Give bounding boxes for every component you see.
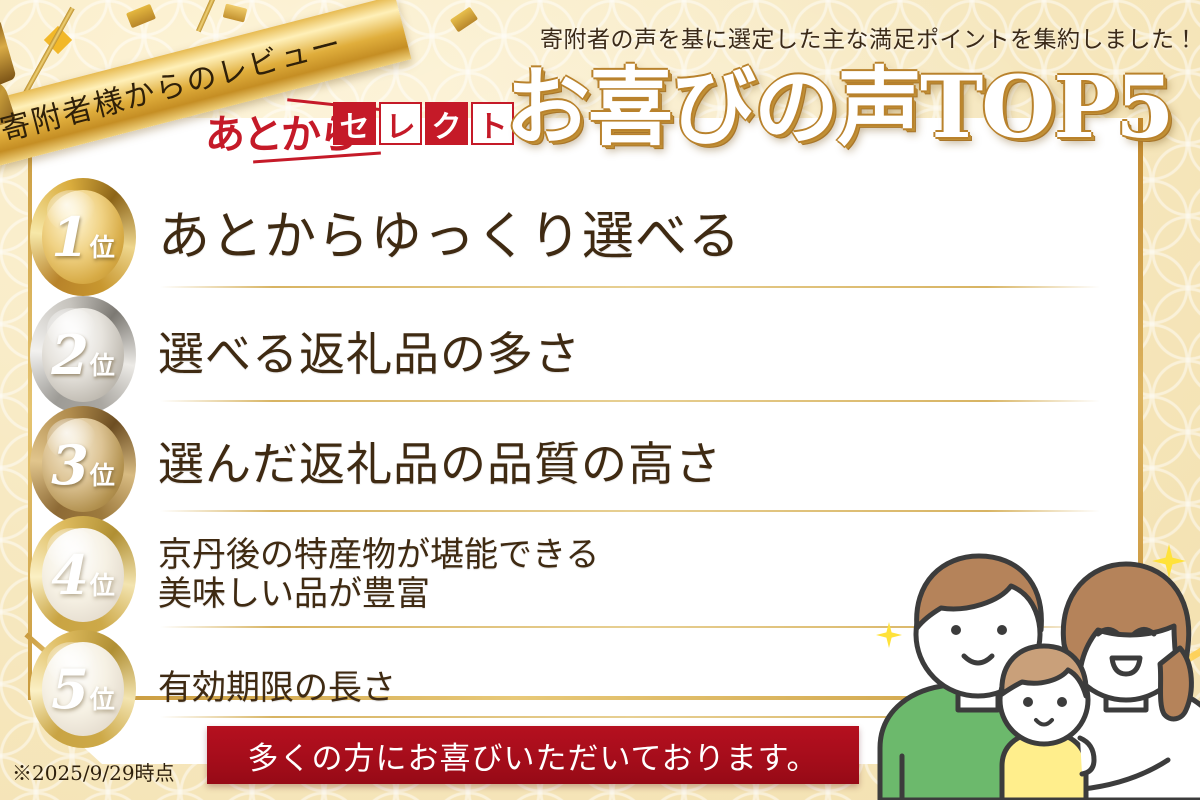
rank-label-line: 京丹後の特産物が堪能できる bbox=[158, 536, 599, 575]
rank-suffix: 位 bbox=[90, 353, 115, 378]
rank-label-line: 選んだ返礼品の品質の高さ bbox=[158, 438, 722, 491]
rank-label-line: 有効期限の長さ bbox=[158, 669, 396, 708]
bottom-banner: 多くの方にお喜びいただいております。 bbox=[207, 726, 859, 784]
date-note: ※2025/9/29時点 bbox=[12, 757, 175, 786]
rank-number: 3 bbox=[51, 438, 89, 492]
rank-row: 1 位 あとからゆっくり選べる bbox=[30, 178, 741, 296]
rank-number: 4 bbox=[51, 548, 89, 602]
rank-label: 京丹後の特産物が堪能できる 美味しい品が豊富 bbox=[158, 536, 599, 615]
rank-label-line: 美味しい品が豊富 bbox=[158, 575, 599, 614]
medal-rank-text: 1 位 bbox=[51, 210, 115, 264]
family-illustration bbox=[862, 498, 1200, 800]
rank-row: 4 位 京丹後の特産物が堪能できる 美味しい品が豊富 bbox=[30, 516, 599, 634]
medal-icon-gold: 1 位 bbox=[30, 178, 136, 296]
medal-rank-text: 4 位 bbox=[51, 548, 115, 602]
family-svg bbox=[862, 498, 1200, 800]
rank-suffix: 位 bbox=[90, 573, 115, 598]
rank-separator bbox=[160, 400, 1100, 402]
rank-row: 2 位 選べる返礼品の多さ bbox=[30, 296, 581, 414]
rank-label: 選んだ返礼品の品質の高さ bbox=[158, 438, 722, 491]
ribbon-stick-icon bbox=[196, 0, 225, 32]
subtitle-text: 寄附者の声を基に選定した主な満足ポイントを集約しました！ bbox=[540, 20, 1180, 54]
rank-suffix: 位 bbox=[90, 687, 115, 712]
rank-row: 3 位 選んだ返礼品の品質の高さ bbox=[30, 406, 722, 524]
rank-number: 5 bbox=[51, 662, 89, 716]
rank-label: 有効期限の長さ bbox=[158, 669, 396, 708]
medal-icon-rank5: 5 位 bbox=[30, 630, 136, 748]
medal-rank-text: 5 位 bbox=[51, 662, 115, 716]
medal-icon-silver: 2 位 bbox=[30, 296, 136, 414]
rank-number: 2 bbox=[51, 328, 89, 382]
rank-suffix: 位 bbox=[90, 235, 115, 260]
rank-number: 1 bbox=[51, 210, 89, 264]
rank-suffix: 位 bbox=[90, 463, 115, 488]
medal-rank-text: 3 位 bbox=[51, 438, 115, 492]
medal-rank-text: 2 位 bbox=[51, 328, 115, 382]
rank-label-line: 選べる返礼品の多さ bbox=[158, 328, 581, 381]
bottom-banner-text: 多くの方にお喜びいただいております。 bbox=[247, 733, 818, 778]
medal-icon-rank4: 4 位 bbox=[30, 516, 136, 634]
rank-label-line: あとからゆっくり選べる bbox=[158, 207, 741, 267]
rank-separator bbox=[160, 286, 1100, 288]
poster-canvas: 寄附者様からのレビュー あとから セ レ ク ト 寄附者の声を基に選定した主な満… bbox=[0, 0, 1200, 800]
rank-label: あとからゆっくり選べる bbox=[158, 207, 741, 267]
medal-icon-bronze: 3 位 bbox=[30, 406, 136, 524]
rank-label: 選べる返礼品の多さ bbox=[158, 328, 581, 381]
